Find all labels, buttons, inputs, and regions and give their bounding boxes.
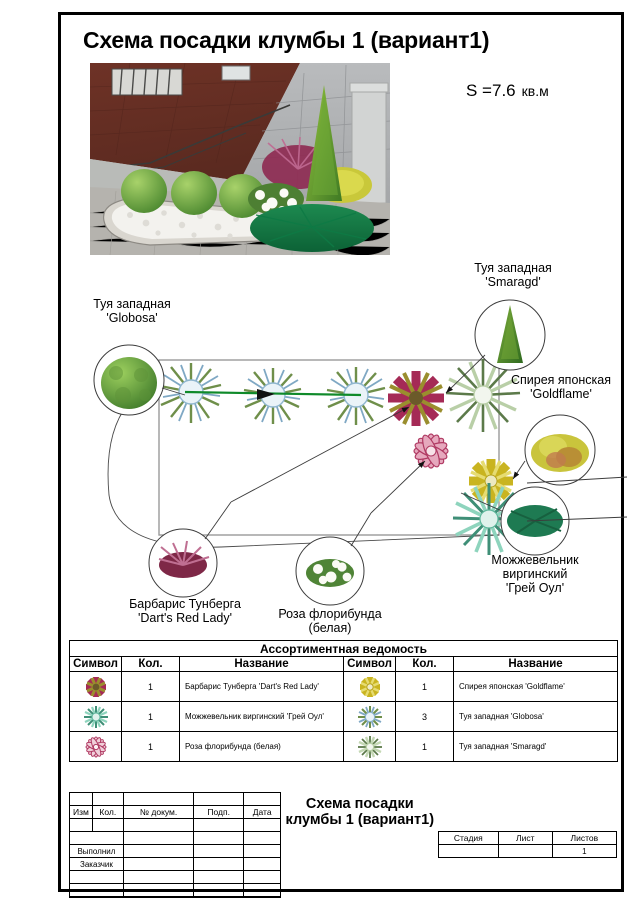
assortment-title-row: Ассортиментная ведомость [70,641,618,657]
stamp-row-blank-3: Стадия Лист Листов [70,832,617,845]
berberis-symbol [70,672,122,702]
callout-label-rose: Роза флорибунда (белая) [265,607,395,635]
stamp-cell[interactable] [123,819,193,832]
stamp-col-izm: Изм [70,806,93,819]
reference-photo [90,63,390,255]
stamp-cell[interactable] [194,845,244,858]
stamp-cell[interactable] [70,871,124,884]
smaragd-symbol [344,732,396,762]
plan-symbol-spirea [469,459,513,503]
stamp-cell[interactable] [70,884,124,898]
stamp-org-cell [438,858,616,898]
plan-symbol-rose [413,433,449,469]
stamp-role-vypolnil: Выполнил [70,845,124,858]
name-cell: Роза флорибунда (белая) [180,732,344,762]
callout-bubble-rose [296,461,425,605]
stamp-row-blank-top: Схема посадки клумбы 1 (вариант1) [70,793,617,806]
stamp-spacer [281,884,438,898]
qty-cell: 1 [122,732,180,762]
callout-bubble-berberis [149,407,409,597]
assortment-table: Ассортиментная ведомость Символ Кол. Наз… [69,640,618,762]
globosa-symbol [344,702,396,732]
stamp-cell[interactable] [244,884,281,898]
stamp-title-spacer [438,793,616,832]
name-cell: Спирея японская 'Goldflame' [454,672,618,702]
stamp-col-stadia: Стадия [438,832,498,845]
page-title: Схема посадки клумбы 1 (вариант1) [83,27,489,54]
callout-label-berberis: Барбарис Тунберга 'Dart's Red Lady' [109,597,261,625]
qty-cell: 1 [122,702,180,732]
title-block: Схема посадки клумбы 1 (вариант1) Изм Ко… [69,792,617,898]
drawing-sheet: Схема посадки клумбы 1 (вариант1) S =7.6… [58,12,624,892]
stamp-col-kol: Кол. [92,806,123,819]
stamp-col-list: Лист [498,832,552,845]
plan-symbol-berberis [388,371,444,426]
stamp-cell[interactable] [244,871,281,884]
name-cell: Барбарис Тунберга 'Dart's Red Lady' [180,672,344,702]
stamp-cell[interactable] [194,819,244,832]
stamp-cell[interactable] [194,884,244,898]
stamp-role-zakazchik: Заказчик [70,858,124,871]
stamp-cell[interactable] [244,793,281,806]
photo-illustration [90,63,390,255]
stamp-cell[interactable] [123,845,193,858]
drawing-title: Схема посадки клумбы 1 (вариант1) [286,796,435,828]
spirea-symbol [344,672,396,702]
stamp-cell[interactable] [194,832,244,845]
juniper-symbol [70,702,122,732]
name-cell: Туя западная 'Smaragd' [454,732,618,762]
callout-label-spirea: Спирея японская 'Goldflame' [493,373,629,401]
stamp-cell[interactable] [194,858,244,871]
header-symbol-left: Символ [70,657,122,672]
planting-plan: Туя западная 'Globosa' Туя западная 'Sma… [61,255,627,645]
table-row: 1 Можжевельник виргинский 'Грей Оул' [70,702,618,732]
area-note: S =7.6кв.м [466,81,549,101]
header-qty-left: Кол. [122,657,180,672]
plan-symbol-globosa-2 [244,368,301,424]
callout-label-juniper: Можжевельник виргинский 'Грей Оул' [465,553,605,595]
stamp-cell[interactable] [70,793,93,806]
stamp-cell[interactable] [123,871,193,884]
qty-cell: 3 [396,702,454,732]
stamp-cell[interactable] [70,819,93,832]
qty-cell: 1 [396,672,454,702]
stamp-cell[interactable] [244,858,281,871]
table-row: 1 Барбарис Тунберга 'Dart's Red Lady' [70,672,618,702]
stamp-cell[interactable] [92,819,123,832]
header-qty-right: Кол. [396,657,454,672]
stamp-cell[interactable] [244,832,281,845]
stamp-cell[interactable] [123,884,193,898]
area-value: S =7.6 [466,81,516,100]
table-row: 1 Роза флорибунда (белая) [70,732,618,762]
stamp-col-listov: Листов [552,832,616,845]
stamp-object-cell [281,832,438,884]
stamp-cell[interactable] [194,793,244,806]
stamp-cell[interactable] [244,819,281,832]
stamp-cell[interactable] [70,832,124,845]
area-unit: кв.м [522,83,549,99]
stamp-cell[interactable] [123,832,193,845]
stamp-value-list[interactable] [498,845,552,858]
callout-label-globosa: Туя западная 'Globosa' [67,297,197,325]
stamp-value-stadia[interactable] [438,845,498,858]
rose-symbol [70,732,122,762]
stamp-col-docnum: № докум. [123,806,193,819]
header-name-left: Название [180,657,344,672]
assortment-header-row: Символ Кол. Название Символ Кол. Названи… [70,657,618,672]
callout-bubble-spirea [513,415,595,485]
assortment-title: Ассортиментная ведомость [70,641,618,657]
stamp-col-data: Дата [244,806,281,819]
qty-cell: 1 [396,732,454,762]
callout-label-smaragd: Туя западная 'Smaragd' [453,261,573,289]
qty-cell: 1 [122,672,180,702]
stamp-cell[interactable] [194,871,244,884]
name-cell: Туя западная 'Globosa' [454,702,618,732]
stamp-cell[interactable] [123,858,193,871]
name-cell: Можжевельник виргинский 'Грей Оул' [180,702,344,732]
header-name-right: Название [454,657,618,672]
stamp-col-podp: Подп. [194,806,244,819]
drawing-title-cell: Схема посадки клумбы 1 (вариант1) [281,793,438,832]
stamp-cell[interactable] [92,793,123,806]
stamp-cell[interactable] [123,793,193,806]
stamp-cell[interactable] [244,845,281,858]
stamp-value-listov[interactable]: 1 [552,845,616,858]
header-symbol-right: Символ [344,657,396,672]
